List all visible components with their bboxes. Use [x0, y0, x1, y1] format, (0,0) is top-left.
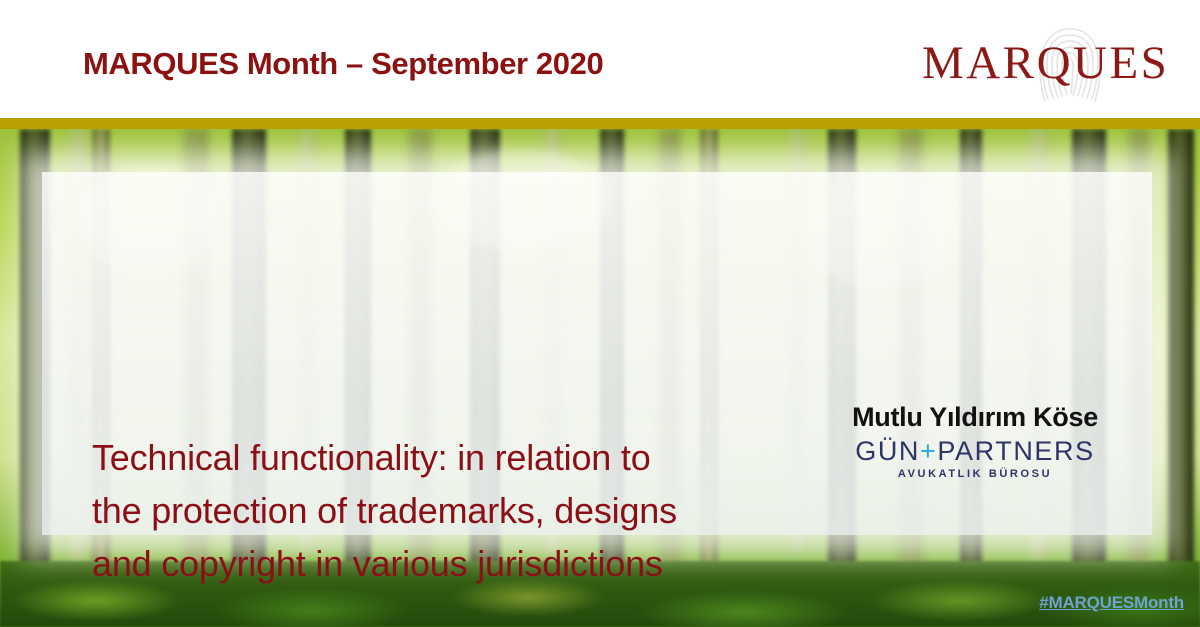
plus-icon: + — [920, 436, 937, 466]
slide-header: MARQUES Month – September 2020 — [0, 0, 1200, 118]
forest-background-image: Technical functionality: in relation to … — [0, 129, 1200, 627]
speaker-name: Mutlu Yıldırım Köse — [800, 401, 1150, 433]
title-line-3: and copyright in various jurisdictions — [92, 537, 792, 590]
gold-divider — [0, 118, 1200, 129]
event-hashtag[interactable]: #MARQUESMonth — [1039, 593, 1184, 613]
firm-logo-wordmark: GÜN+PARTNERS — [800, 436, 1150, 466]
firm-tagline: AVUKATLIK BÜROSU — [800, 468, 1150, 480]
firm-name-part1: GÜN — [855, 436, 920, 466]
marques-logo: MARQUES — [922, 32, 1162, 94]
title-line-1: Technical functionality: in relation to — [92, 431, 792, 484]
page-title: MARQUES Month – September 2020 — [83, 46, 603, 82]
firm-name-part2: PARTNERS — [937, 436, 1094, 466]
speaker-credit: Mutlu Yıldırım Köse GÜN+PARTNERS AVUKATL… — [800, 401, 1150, 480]
presentation-slide: MARQUES Month – September 2020 — [0, 0, 1200, 627]
slide-title: Technical functionality: in relation to … — [92, 431, 792, 590]
title-line-2: the protection of trademarks, designs — [92, 484, 792, 537]
marques-wordmark: MARQUES — [922, 38, 1162, 88]
